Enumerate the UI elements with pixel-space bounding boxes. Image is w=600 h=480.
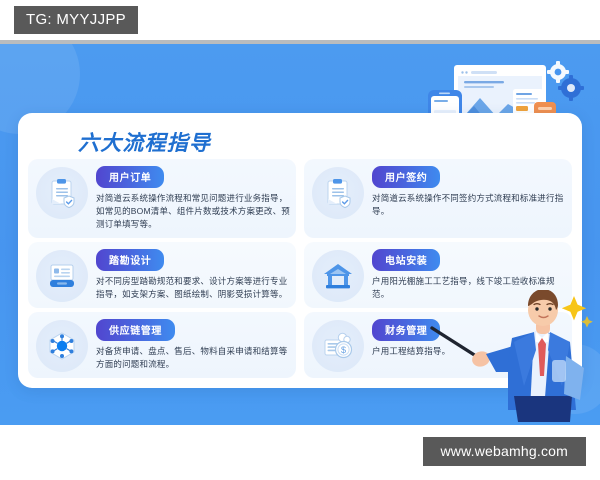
- watermark-top: TG: MYYJJPP: [14, 6, 138, 34]
- page-title: 六大流程指导: [78, 127, 211, 157]
- screenshot-stage: TG: MYYJJPP: [0, 0, 600, 480]
- poster-background: 六大流程指导: [0, 44, 600, 425]
- process-card-user-order[interactable]: 用户订单 对简道云系统操作流程和常见问题进行业务指导，如常见的BOM清单、组件片…: [28, 159, 296, 238]
- card-label: 用户签约: [372, 166, 440, 188]
- card-label: 供应链管理: [96, 319, 175, 341]
- card-description: 对不同房型踏勘规范和要求、设计方案等进行专业指导，如支架方案、图纸绘制、阴影受损…: [96, 275, 290, 301]
- process-card-supply-chain[interactable]: 供应链管理 对备货申请、盘点、售后、物料自采申请和结算等方面的问题和流程。: [28, 312, 296, 378]
- process-card-user-contract[interactable]: 用户签约 对简道云系统操作不同签约方式流程和标准进行指导。: [304, 159, 572, 238]
- network-node-icon: [36, 320, 88, 372]
- house-icon: [312, 250, 364, 302]
- svg-text:$: $: [341, 345, 346, 355]
- top-strip: TG: MYYJJPP: [0, 0, 600, 42]
- coins-money-icon: $: [312, 320, 364, 372]
- clipboard-shield-icon: [312, 167, 364, 219]
- card-description: 对简道云系统操作不同签约方式流程和标准进行指导。: [372, 192, 566, 218]
- card-description: 对备货申请、盘点、售后、物料自采申请和结算等方面的问题和流程。: [96, 345, 290, 371]
- card-description: 对简道云系统操作流程和常见问题进行业务指导，如常见的BOM清单、组件片数或技术方…: [96, 192, 290, 232]
- card-label: 踏勘设计: [96, 249, 164, 271]
- watermark-bottom: www.webamhg.com: [423, 437, 587, 466]
- businessman-pointer-illustration: [424, 290, 594, 425]
- card-label: 电站安装: [372, 249, 440, 271]
- process-card-survey-design[interactable]: 踏勘设计 对不同房型踏勘规范和要求、设计方案等进行专业指导，如支架方案、图纸绘制…: [28, 242, 296, 308]
- blueprint-icon: [36, 250, 88, 302]
- card-label: 用户订单: [96, 166, 164, 188]
- clipboard-shield-icon: [36, 167, 88, 219]
